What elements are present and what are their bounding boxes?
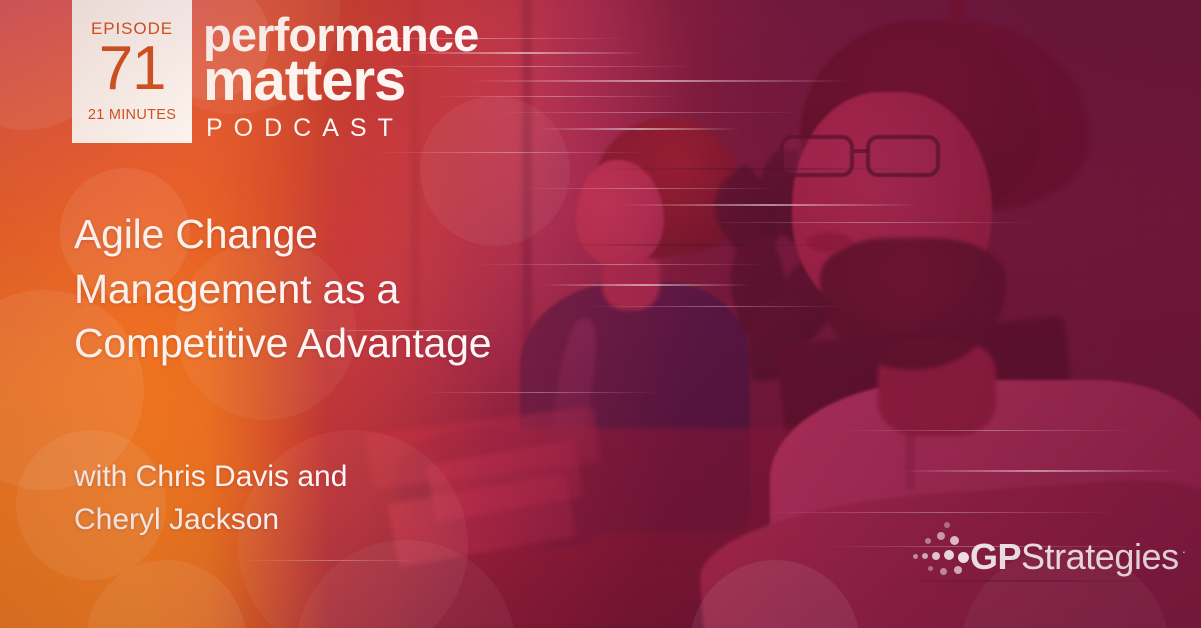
wordmark-matters: matters xyxy=(203,54,478,107)
dot-cluster-icon xyxy=(910,534,968,580)
guest-credits-line-2: Cheryl Jackson xyxy=(74,499,347,542)
podcast-wordmark: performance matters PODCAST xyxy=(203,13,478,143)
episode-title-line-2: Management as a xyxy=(74,262,491,317)
logo-brand-bold: GP xyxy=(970,539,1021,575)
episode-number: 71 xyxy=(99,39,165,100)
guest-credits-line-1: with Chris Davis and xyxy=(74,456,347,499)
episode-title-line-1: Agile Change xyxy=(74,207,491,262)
gp-strategies-logo[interactable]: GP Strategies · xyxy=(910,534,1186,580)
podcast-promo-image: EPISODE 71 21 MINUTES performance matter… xyxy=(0,0,1201,628)
logo-trademark: · xyxy=(1182,545,1186,558)
wordmark-podcast: PODCAST xyxy=(206,114,478,143)
episode-title-line-3: Competitive Advantage xyxy=(74,316,491,371)
guest-credits: with Chris Davis and Cheryl Jackson xyxy=(74,456,347,541)
episode-duration: 21 MINUTES xyxy=(88,108,176,123)
episode-title: Agile Change Management as a Competitive… xyxy=(74,207,491,371)
episode-badge: EPISODE 71 21 MINUTES xyxy=(72,0,192,143)
logo-brand-light: Strategies xyxy=(1021,539,1179,575)
